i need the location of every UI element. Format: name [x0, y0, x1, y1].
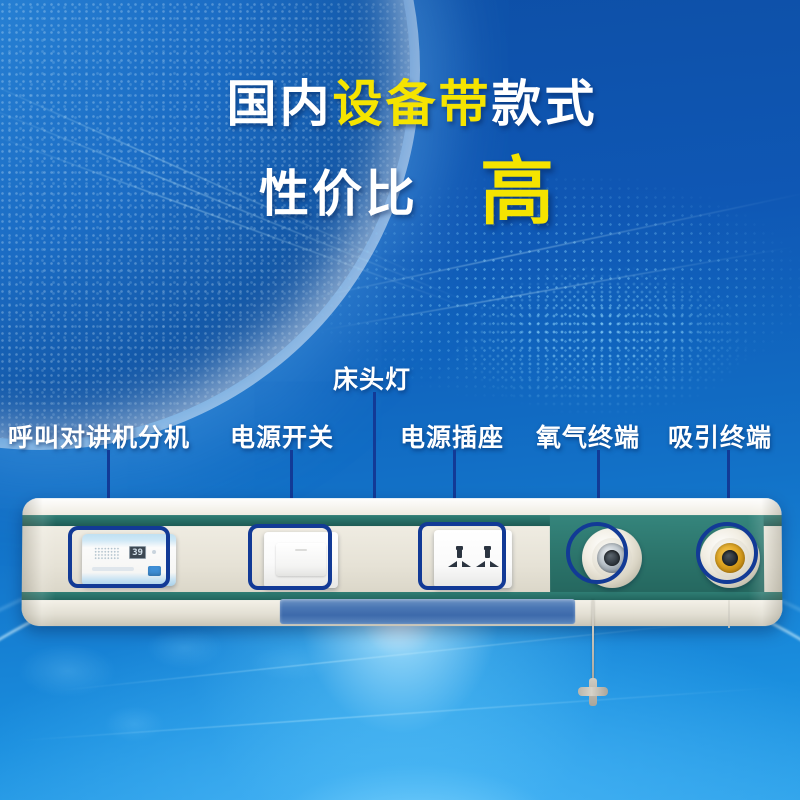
label-power-socket: 电源插座	[400, 418, 504, 454]
highlight-box-power-socket	[418, 522, 506, 590]
oxygen-terminal-cord	[592, 600, 594, 686]
cord-cross-connector-icon	[578, 678, 608, 706]
bedlamp-strip[interactable]	[280, 599, 575, 624]
label-bedlamp: 床头灯	[333, 360, 411, 396]
label-oxygen-terminal: 氧气终端	[536, 418, 640, 454]
label-suction-terminal: 吸引终端	[668, 418, 772, 454]
highlight-circle-oxygen	[566, 522, 628, 584]
promo-image-stage: 国内设备带款式 性价比高 呼叫对讲机分机 电源开关 床头灯 电源插座 氧气终端 …	[0, 0, 800, 800]
panel-top-highlight	[22, 498, 781, 514]
panel-endcap-left	[21, 498, 56, 626]
callout-labels: 呼叫对讲机分机 电源开关 床头灯 电源插座 氧气终端 吸引终端	[0, 0, 800, 800]
highlight-box-power-switch	[248, 524, 332, 590]
suction-terminal-cord	[728, 600, 730, 628]
highlight-box-intercom	[68, 526, 170, 588]
label-power-switch: 电源开关	[230, 418, 334, 454]
highlight-circle-suction	[696, 522, 758, 584]
label-intercom: 呼叫对讲机分机	[8, 418, 190, 454]
